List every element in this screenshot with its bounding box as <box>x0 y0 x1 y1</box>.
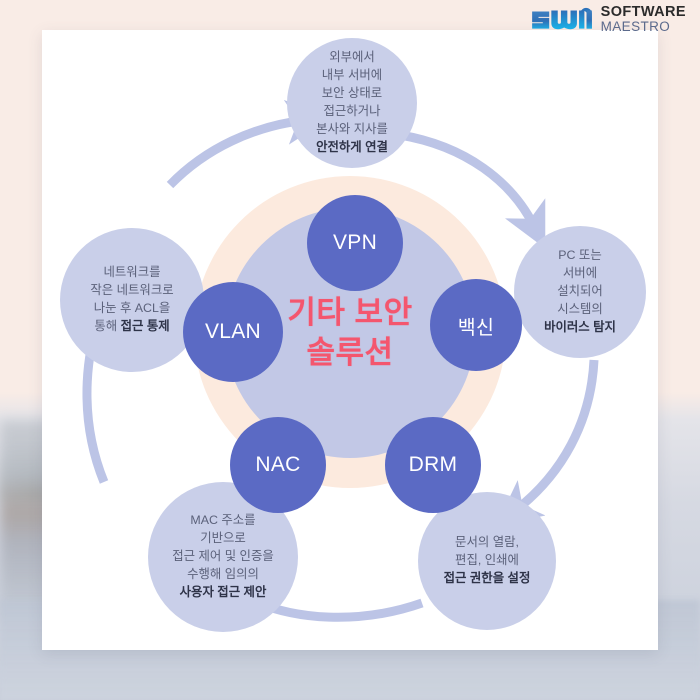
bubble-line: 접근 제어 및 인증을 <box>172 549 274 563</box>
bubble-line: 시스템의 <box>557 302 603 316</box>
bubble-line: 본사와 지사를 <box>316 122 388 136</box>
node-label: VLAN <box>205 320 261 344</box>
bubble-line: PC 또는 <box>558 248 601 262</box>
bubble-line: 설치되어 <box>557 284 603 298</box>
bubble-line: 외부에서 <box>329 50 375 64</box>
bubble-emphasis: 사용자 접근 제안 <box>180 585 267 599</box>
bubble-line: 나눈 후 ACL을 <box>94 301 171 315</box>
bubble-line: 편집, 인쇄에 <box>455 553 519 567</box>
bubble-line: 문서의 열람, <box>455 535 519 549</box>
logo-text-maestro: MAESTRO <box>601 20 686 34</box>
bubble-line: 작은 네트워크로 <box>90 283 173 297</box>
node-label: DRM <box>409 453 458 477</box>
bubble-vpn-desc: 외부에서 내부 서버에 보안 상태로 접근하거나 본사와 지사를 안전하게 연결 <box>287 38 417 168</box>
bubble-line: MAC 주소를 <box>190 513 255 527</box>
bubble-emphasis: 접근 통제 <box>121 319 170 333</box>
bubble-emphasis: 접근 권한을 설정 <box>444 571 531 585</box>
node-label: 백신 <box>458 311 494 340</box>
arrow-vlan-to-vpn <box>170 120 306 185</box>
bubble-line: 수행해 임의의 <box>187 567 259 581</box>
arrow-vaccine-to-drm <box>516 360 594 510</box>
bubble-line: 네트워크를 <box>104 265 161 279</box>
bubble-line: 통해 <box>94 319 120 333</box>
node-vpn[interactable]: VPN <box>307 195 403 291</box>
slide-canvas: SOFTWARE MAESTRO <box>0 0 700 700</box>
node-drm[interactable]: DRM <box>385 417 481 513</box>
arrow-vpn-to-vaccine <box>400 135 534 226</box>
bubble-emphasis: 안전하게 연결 <box>316 140 388 154</box>
bubble-line: 보안 상태로 <box>322 86 382 100</box>
logo-text-software: SOFTWARE <box>601 5 686 20</box>
node-label: NAC <box>255 453 300 477</box>
brand-logo: SOFTWARE MAESTRO <box>530 5 686 34</box>
bubble-emphasis: 바이러스 탐지 <box>544 320 616 334</box>
bubble-drm-desc: 문서의 열람, 편집, 인쇄에 접근 권한을 설정 <box>418 492 556 630</box>
node-vlan[interactable]: VLAN <box>183 282 283 382</box>
node-vaccine[interactable]: 백신 <box>430 279 522 371</box>
bubble-line: 내부 서버에 <box>322 68 382 82</box>
node-nac[interactable]: NAC <box>230 417 326 513</box>
bubble-vlan-desc: 네트워크를 작은 네트워크로 나눈 후 ACL을 통해 접근 통제 <box>60 228 204 372</box>
bubble-vaccine-desc: PC 또는 서버에 설치되어 시스템의 바이러스 탐지 <box>514 226 646 358</box>
bubble-line: 접근하거나 <box>324 104 381 118</box>
bubble-line: 서버에 <box>563 266 597 280</box>
node-label: VPN <box>333 231 377 255</box>
security-solution-diagram: 외부에서 내부 서버에 보안 상태로 접근하거나 본사와 지사를 안전하게 연결… <box>42 30 658 650</box>
bubble-line: 기반으로 <box>200 531 246 545</box>
content-card: 외부에서 내부 서버에 보안 상태로 접근하거나 본사와 지사를 안전하게 연결… <box>42 30 658 650</box>
swm-logo-icon <box>530 6 594 32</box>
